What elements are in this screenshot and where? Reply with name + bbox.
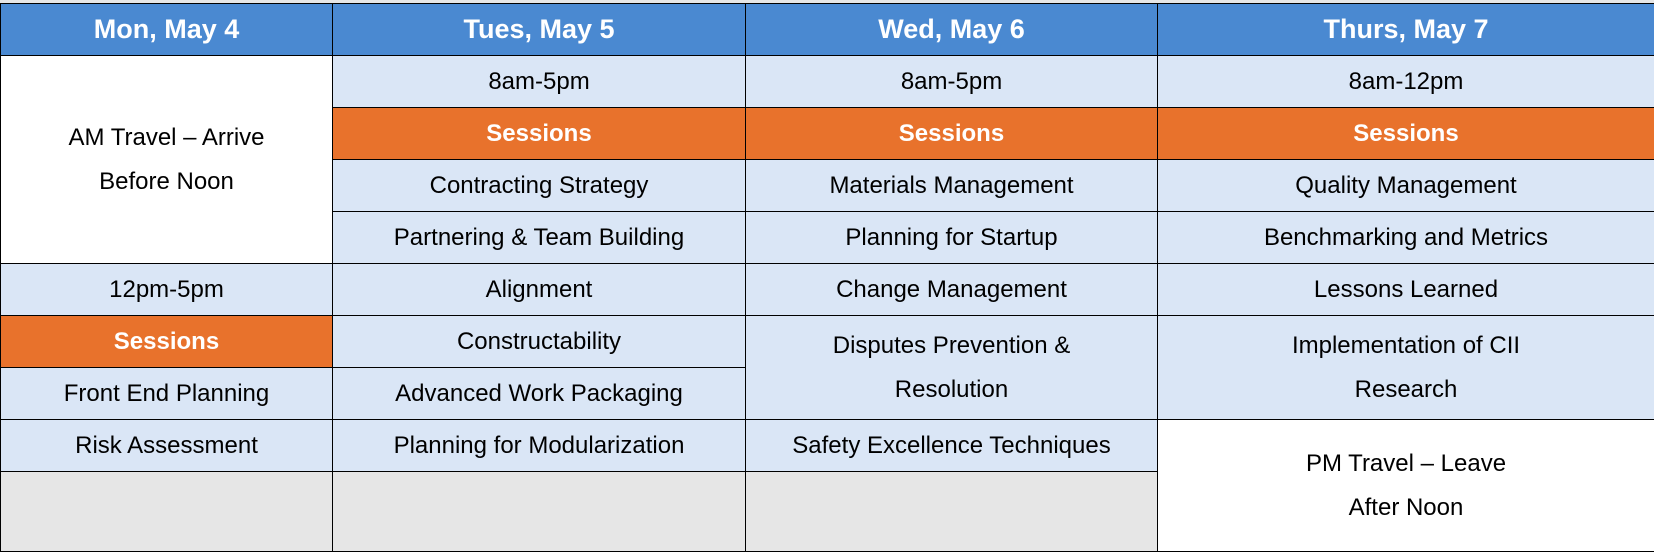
- conference-schedule-table: Mon, May 4 Tues, May 5 Wed, May 6 Thurs,…: [0, 3, 1654, 552]
- wed-sessions-banner: Sessions: [746, 108, 1158, 160]
- wed-empty-cell: [746, 472, 1158, 552]
- mon-am-travel-cell: AM Travel – Arrive Before Noon: [1, 56, 333, 264]
- column-header-tues: Tues, May 5: [333, 4, 746, 56]
- mon-session-2: Risk Assessment: [1, 420, 333, 472]
- column-header-thurs: Thurs, May 7: [1158, 4, 1654, 56]
- thurs-session-1: Quality Management: [1158, 160, 1654, 212]
- thurs-session-4: Implementation of CII Research: [1158, 316, 1654, 420]
- tues-session-3: Alignment: [333, 264, 746, 316]
- spacer: [752, 361, 1151, 374]
- table-row: AM Travel – Arrive Before Noon 8am-5pm 8…: [1, 56, 1654, 108]
- thurs-session-3: Lessons Learned: [1158, 264, 1654, 316]
- wed-session-3: Change Management: [746, 264, 1158, 316]
- spacer: [1164, 479, 1648, 492]
- wed-time-cell: 8am-5pm: [746, 56, 1158, 108]
- mon-am-travel-line1: AM Travel – Arrive: [7, 122, 326, 153]
- table-row: Sessions Constructability Disputes Preve…: [1, 316, 1654, 368]
- table-header-row: Mon, May 4 Tues, May 5 Wed, May 6 Thurs,…: [1, 4, 1654, 56]
- thurs-pm-travel-cell: PM Travel – Leave After Noon: [1158, 420, 1654, 552]
- tues-session-1: Contracting Strategy: [333, 160, 746, 212]
- wed-session-4: Disputes Prevention & Resolution: [746, 316, 1158, 420]
- mon-empty-cell: [1, 472, 333, 552]
- tues-sessions-banner: Sessions: [333, 108, 746, 160]
- schedule-container: Mon, May 4 Tues, May 5 Wed, May 6 Thurs,…: [0, 0, 1654, 551]
- table-row: 12pm-5pm Alignment Change Management Les…: [1, 264, 1654, 316]
- wed-session-1: Materials Management: [746, 160, 1158, 212]
- wed-session-4-line2: Resolution: [752, 374, 1151, 405]
- wed-session-5: Safety Excellence Techniques: [746, 420, 1158, 472]
- column-header-mon: Mon, May 4: [1, 4, 333, 56]
- column-header-wed: Wed, May 6: [746, 4, 1158, 56]
- wed-session-2: Planning for Startup: [746, 212, 1158, 264]
- tues-session-2: Partnering & Team Building: [333, 212, 746, 264]
- tues-session-5: Advanced Work Packaging: [333, 368, 746, 420]
- thurs-pm-travel-line2: After Noon: [1164, 492, 1648, 523]
- spacer: [7, 153, 326, 166]
- wed-session-4-line1: Disputes Prevention &: [752, 330, 1151, 361]
- thurs-session-4-line2: Research: [1164, 374, 1648, 405]
- tues-session-4: Constructability: [333, 316, 746, 368]
- table-row: Risk Assessment Planning for Modularizat…: [1, 420, 1654, 472]
- tues-session-6: Planning for Modularization: [333, 420, 746, 472]
- spacer: [1164, 361, 1648, 374]
- thurs-pm-travel-line1: PM Travel – Leave: [1164, 448, 1648, 479]
- mon-am-travel-line2: Before Noon: [7, 166, 326, 197]
- thurs-time-cell: 8am-12pm: [1158, 56, 1654, 108]
- thurs-sessions-banner: Sessions: [1158, 108, 1654, 160]
- mon-session-1: Front End Planning: [1, 368, 333, 420]
- tues-time-cell: 8am-5pm: [333, 56, 746, 108]
- thurs-session-4-line1: Implementation of CII: [1164, 330, 1648, 361]
- mon-sessions-banner: Sessions: [1, 316, 333, 368]
- mon-time-cell: 12pm-5pm: [1, 264, 333, 316]
- thurs-session-2: Benchmarking and Metrics: [1158, 212, 1654, 264]
- tues-empty-cell: [333, 472, 746, 552]
